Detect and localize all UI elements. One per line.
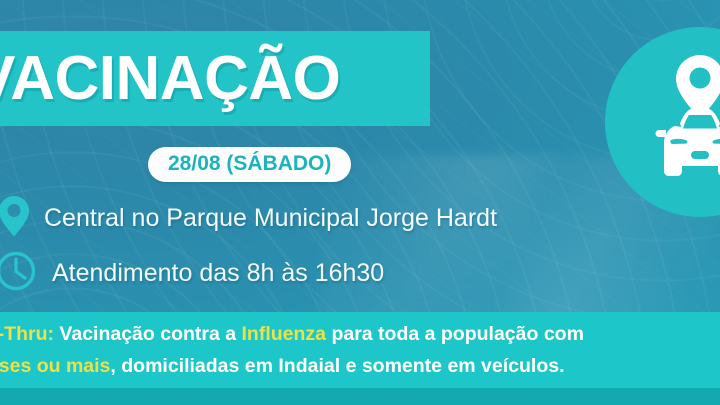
footer-run-1: , domiciliadas em Indaial e somente em v… [110,355,564,377]
schedule-text: Atendimento das 8h às 16h30 [52,259,384,288]
footer-strip [0,388,720,405]
location-text: Central no Parque Municipal Jorge Hardt [44,204,497,233]
vaccination-poster: VACINAÇÃO 28/08 (SÁBADO) Central no Parq… [0,0,720,405]
footer-line-1: ve-Thru: Vacinação contra a Influenza pa… [0,318,720,350]
footer-run-1: Vacinação contra a [54,323,242,345]
footer-run-3: para toda a população com [326,323,584,345]
schedule-row: Atendimento das 8h às 16h30 [0,248,384,299]
footer-line-2: neses ou mais, domiciliadas em Indaial e… [0,350,720,382]
date-badge: 28/08 (SÁBADO) [148,147,351,182]
location-row: Central no Parque Municipal Jorge Hardt [0,192,497,245]
page-title: VACINAÇÃO [0,36,444,121]
clock-icon [0,248,38,299]
car-badge-circle [605,27,720,217]
footer-run-0: ve-Thru: [0,323,54,345]
location-pin-icon [0,192,34,245]
footer-run-0: neses ou mais [0,355,110,377]
footer-text: ve-Thru: Vacinação contra a Influenza pa… [0,318,720,382]
footer-run-2: Influenza [242,323,327,345]
car-with-location-pin-icon [627,45,720,197]
